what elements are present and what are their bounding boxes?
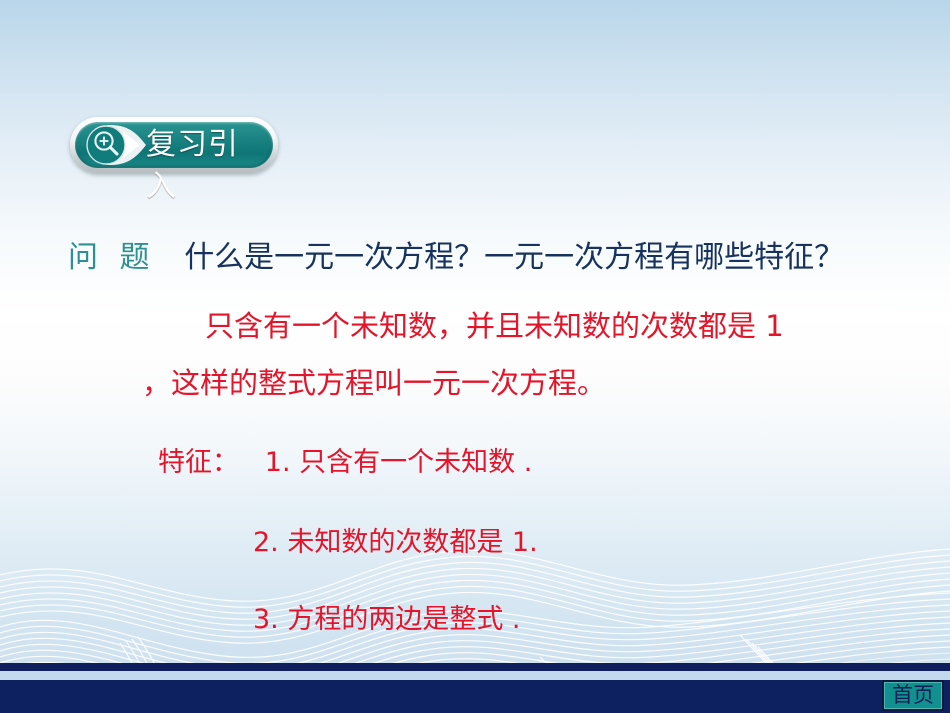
question-line: 问 题 什么是一元一次方程？一元一次方程有哪些特征？ [68, 232, 844, 276]
footer-band-strip [0, 671, 950, 680]
home-button[interactable]: 首页 [882, 680, 944, 711]
feature-item-1: 1. 只含有一个未知数 . [265, 447, 533, 478]
features-line-2: 2. 未知数的次数都是 1. [253, 520, 538, 559]
footer-band-upper [0, 663, 950, 671]
definition-line-2: ，这样的整式方程叫一元一次方程。 [142, 360, 606, 402]
home-button-label: 首页 [892, 683, 934, 707]
badge-label: 复习引入 [146, 124, 266, 166]
features-line-1: 特征： 1. 只含有一个未知数 . [158, 440, 532, 479]
zoom-in-magnifier-icon [76, 121, 156, 169]
features-heading: 特征： [158, 447, 239, 478]
slide-canvas: 复习引入 问 题 什么是一元一次方程？一元一次方程有哪些特征？ 只含有一个未知数… [0, 0, 950, 713]
footer-band-lower [0, 680, 950, 713]
question-text: 什么是一元一次方程？一元一次方程有哪些特征？ [184, 240, 844, 275]
section-badge[interactable]: 复习引入 [70, 117, 278, 173]
definition-line-1: 只含有一个未知数，并且未知数的次数都是 1 [205, 303, 784, 345]
features-line-3: 3. 方程的两边是整式 . [253, 597, 521, 636]
question-tag: 问 题 [68, 240, 156, 275]
